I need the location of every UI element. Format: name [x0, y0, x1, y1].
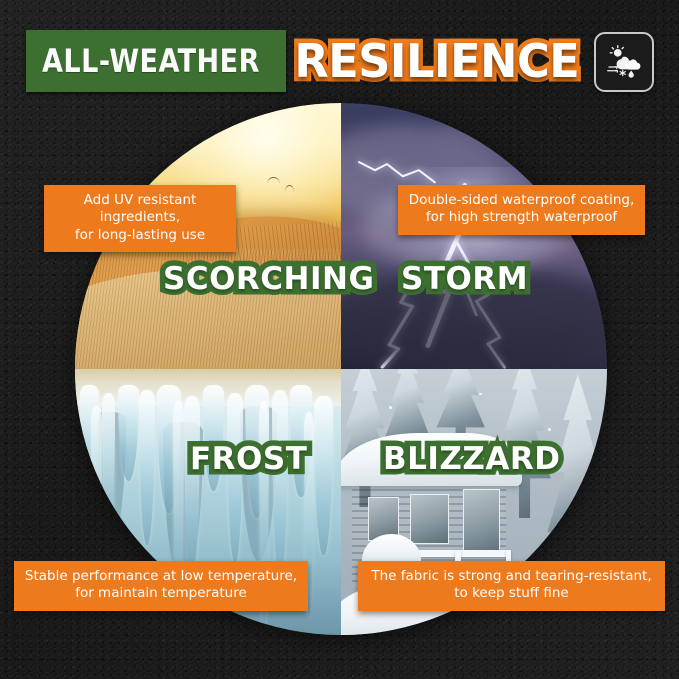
- badge-storm: STORM: [401, 261, 528, 297]
- snowflake: [479, 393, 482, 396]
- icicle: [272, 390, 288, 582]
- caption-blizzard: The fabric is strong and tearing-resista…: [358, 561, 665, 611]
- icicle: [139, 390, 155, 544]
- snowflake: [548, 428, 551, 431]
- quadrant-storm-image: [341, 103, 607, 369]
- caption-line-2: to keep stuff fine: [368, 585, 655, 602]
- caption-frost: Stable performance at low temperature, f…: [14, 561, 308, 611]
- caption-line-2: for high strength waterproof: [408, 209, 635, 226]
- weather-collage-circle: [75, 103, 607, 635]
- header-orange-block: RESILIENCE: [284, 30, 590, 92]
- bird-icon: [285, 185, 294, 192]
- header-green-block: ALL-WEATHER: [26, 30, 286, 92]
- cabin-door: [463, 489, 500, 555]
- icicle: [227, 393, 243, 563]
- caption-line-1: Double-sided waterproof coating,: [408, 192, 635, 209]
- caption-line-2: for long-lasting use: [54, 227, 226, 244]
- caption-storm: Double-sided waterproof coating, for hig…: [398, 185, 645, 235]
- header-title-part1: ALL-WEATHER: [42, 42, 260, 80]
- badge-blizzard: BLIZZARD: [383, 441, 560, 477]
- sun-cloud-wind-snow-rain-icon: [594, 32, 654, 92]
- caption-line-1: Stable performance at low temperature,: [24, 568, 298, 585]
- poster-canvas: SCORCHING STORM FROST BLIZZARD Add UV re…: [0, 0, 679, 679]
- badge-frost: FROST: [190, 441, 307, 477]
- cabin-window: [410, 494, 449, 544]
- caption-line-1: The fabric is strong and tearing-resista…: [368, 568, 655, 585]
- caption-line-2: for maintain temperature: [24, 585, 298, 602]
- header-title-part2: RESILIENCE: [294, 34, 579, 88]
- caption-line-1: Add UV resistant ingredients,: [54, 192, 226, 227]
- bird-icon: [267, 177, 280, 184]
- header-banner: ALL-WEATHER RESILIENCE: [26, 30, 654, 92]
- badge-scorching: SCORCHING: [163, 261, 374, 297]
- icicle: [314, 396, 333, 556]
- snowflake: [389, 406, 392, 409]
- caption-scorching: Add UV resistant ingredients, for long-l…: [44, 185, 236, 252]
